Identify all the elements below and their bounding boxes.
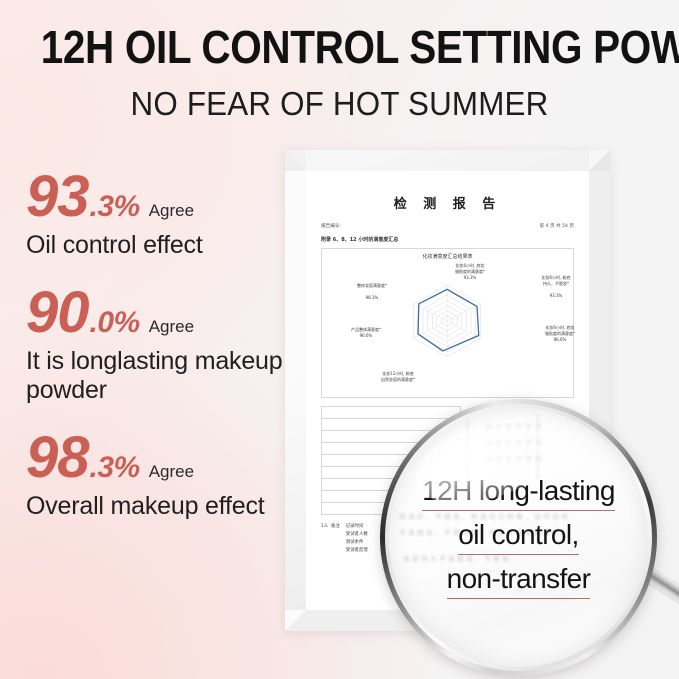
poster-root: 12H OIL CONTROL SETTING POWDER NO FEAR O… [0, 0, 679, 679]
stat-item-longlasting: 90 .0% Agree It is longlasting makeup po… [26, 284, 294, 405]
magnifier-line-1: 12H long-lasting [422, 476, 615, 511]
document-footer-line: 记录时间 [346, 523, 368, 531]
radar-series-polygon [418, 289, 479, 351]
magnifier-rim-inner: 满意度非常高 满意度非常高 满意度非常高 控油好、不脱妆、粉底均匀附着、自然妆效… [385, 404, 652, 671]
stat-description: Overall makeup effect [26, 492, 294, 521]
header: 12H OIL CONTROL SETTING POWDER NO FEAR O… [0, 24, 679, 123]
stat-whole-number: 98 [26, 429, 89, 487]
stat-agree-label: Agree [149, 201, 194, 221]
stat-agree-label: Agree [149, 462, 194, 482]
stat-item-oil-control: 93 .3% Agree Oil control effect [26, 168, 294, 260]
document-meta-left: 报告编号: [321, 223, 341, 229]
stat-whole-number: 90 [26, 284, 89, 342]
radar-label-0: 化妆6小时, 底妆服贴度的满意度*93.3% [420, 263, 520, 281]
stat-value-row: 90 .0% Agree [26, 284, 294, 342]
magnifier-callout-text: 12H long-lasting oil control, non-transf… [389, 408, 648, 667]
stat-description: Oil control effect [26, 231, 294, 260]
stat-decimal-percent: .0% [90, 308, 140, 338]
radar-axes [414, 285, 481, 357]
radar-label-3: 化妆12小时, 粉底自然妆容的满意度* [350, 371, 446, 383]
stat-value-row: 98 .3% Agree [26, 429, 294, 487]
stat-item-overall-makeup: 98 .3% Agree Overall makeup effect [26, 429, 294, 521]
document-meta: 报告编号: 第 4 页 共 54 页 [321, 223, 574, 229]
document-footer-line: 受试者反馈 [346, 547, 368, 555]
stat-agree-label: Agree [149, 317, 194, 337]
document-footer-key: 1人 备注 [321, 523, 340, 556]
stat-description: It is longlasting makeup powder [26, 347, 294, 405]
magnifier: 满意度非常高 满意度非常高 满意度非常高 控油好、不脱妆、粉底均匀附着、自然妆效… [380, 399, 657, 676]
stat-decimal-percent: .3% [90, 453, 140, 483]
stat-whole-number: 93 [26, 168, 89, 226]
stats-list: 93 .3% Agree Oil control effect 90 .0% A… [26, 168, 294, 521]
radar-label-4: 产品整体满意度*96.6% [326, 327, 406, 339]
document-meta-right: 第 4 页 共 54 页 [540, 223, 574, 229]
magnifier-line-2-text: oil control, [458, 520, 578, 555]
radar-label-1: 化妆6小时, 粉底持久、不脱妆*93.3% [510, 275, 589, 299]
radar-chart: 化妆满意度汇总结果表 [321, 248, 574, 398]
radar-label-2: 化妆6小时, 底妆服贴度的满意度*96.6% [514, 325, 589, 343]
magnifier-line-3-text: non-transfer [447, 564, 591, 599]
magnifier-line-1-text: 12H long-lasting [422, 476, 615, 511]
document-footer-line: 受试者人数 [346, 531, 368, 539]
document-title: 检 测 报 告 [321, 193, 574, 212]
radar-label-5: 整体妆容满意度*98.3% [332, 283, 412, 301]
magnifier-line-2: oil control, [458, 520, 578, 555]
document-subheading: 附录 6、8、12 小时的满意度汇总 [321, 236, 574, 243]
document-footer-lines: 记录时间 受试者人数 测试条件 受试者反馈 [346, 523, 368, 556]
document-footer-line: 测试条件 [346, 539, 368, 547]
magnifier-glass: 满意度非常高 满意度非常高 满意度非常高 控油好、不脱妆、粉底均匀附着、自然妆效… [389, 408, 648, 667]
page-subtitle: NO FEAR OF HOT SUMMER [17, 84, 662, 124]
page-title: 12H OIL CONTROL SETTING POWDER [41, 24, 639, 72]
magnifier-rim: 满意度非常高 满意度非常高 满意度非常高 控油好、不脱妆、粉底均匀附着、自然妆效… [380, 399, 657, 676]
stat-value-row: 93 .3% Agree [26, 168, 294, 226]
magnifier-line-3: non-transfer [447, 564, 591, 599]
stat-decimal-percent: .3% [90, 192, 140, 222]
